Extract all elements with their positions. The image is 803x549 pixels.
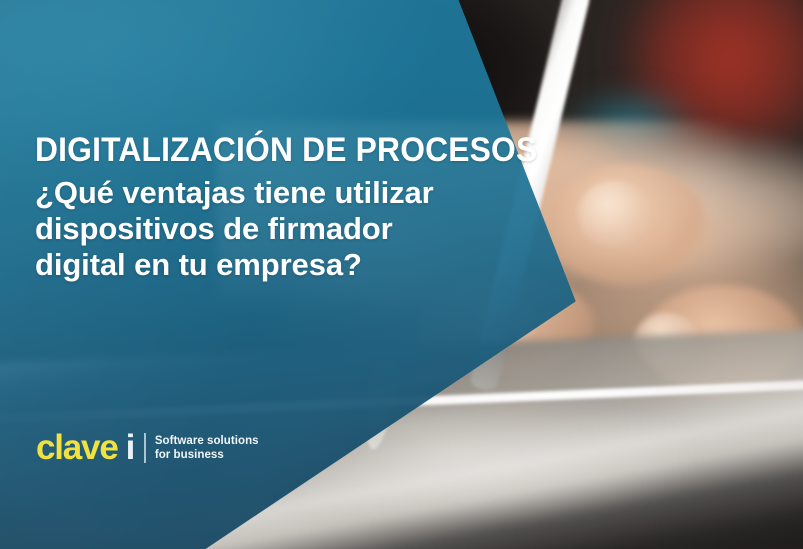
- logo-tagline-line-1: Software solutions: [155, 434, 259, 448]
- eyebrow-text: DIGITALIZACIÓN DE PROCESOS: [35, 131, 484, 169]
- logo-tagline-line-2: for business: [155, 448, 259, 462]
- logo-divider: [144, 433, 146, 463]
- clavei-logo[interactable]: clave i Software solutions for business: [36, 430, 259, 465]
- logo-tagline: Software solutions for business: [155, 434, 259, 462]
- headline-line-3: digital en tu empresa?: [35, 247, 515, 283]
- headline-line-1: ¿Qué ventajas tiene utilizar: [35, 175, 515, 211]
- logo-wordmark: clave: [36, 430, 118, 465]
- headline-line-2: dispositivos de firmador: [35, 211, 515, 247]
- headline-text: ¿Qué ventajas tiene utilizar dispositivo…: [35, 175, 515, 283]
- logo-i-mark: i: [126, 430, 136, 465]
- headline-block: DIGITALIZACIÓN DE PROCESOS ¿Qué ventajas…: [35, 131, 515, 283]
- banner-image: DIGITALIZACIÓN DE PROCESOS ¿Qué ventajas…: [0, 0, 803, 549]
- fingernail-1: [578, 181, 650, 247]
